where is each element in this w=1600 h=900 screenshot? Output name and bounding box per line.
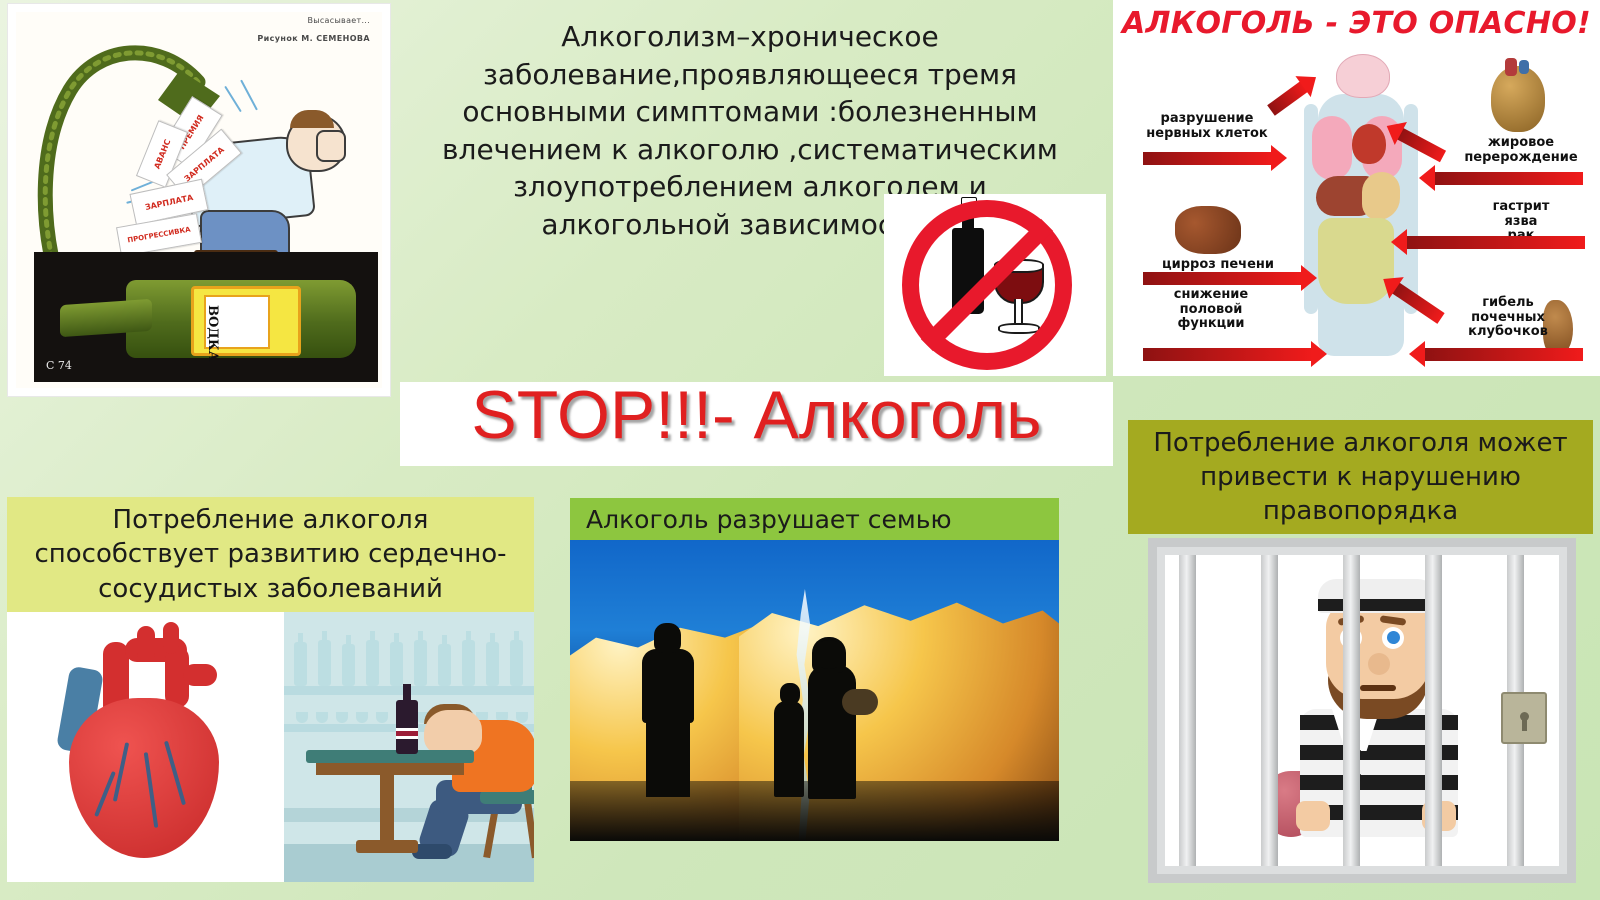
shelf-glass <box>356 712 368 723</box>
arrow-kidney <box>1423 348 1583 361</box>
chair-seat <box>480 790 534 804</box>
arrow-nerve-diagonal <box>1267 81 1309 116</box>
jail-cell <box>1165 555 1559 866</box>
cartoon-card: Высасывает... Рисунок М. СЕМЕНОВА <box>8 4 390 396</box>
table-top <box>306 750 474 763</box>
wine-bottle-label <box>396 728 418 739</box>
shelf-bottle <box>462 640 475 686</box>
bottle-neck <box>60 299 152 337</box>
arrow-sexual <box>1143 348 1313 361</box>
jail-frame <box>1157 547 1567 874</box>
label-nerve-destruction: разрушение нервных клеток <box>1137 112 1277 141</box>
bottle-label-inner: ВОДКА <box>204 295 270 349</box>
arrow-cirrhosis <box>1143 272 1303 285</box>
drunk-man-at-bar-illustration <box>284 612 534 882</box>
anatomical-heart-illustration <box>7 612 284 882</box>
prisoner-nose <box>1368 653 1390 675</box>
jail-bar <box>1343 555 1360 866</box>
label-kidney: гибель почечных клубочков <box>1443 296 1573 340</box>
label-fatty-degeneration: жировое перерождение <box>1453 136 1589 165</box>
jail-bar <box>1425 555 1442 866</box>
cardiovascular-images <box>7 612 534 882</box>
jail-bar <box>1179 555 1196 866</box>
no-alcohol-sign-card <box>884 194 1106 376</box>
shelf-bottle <box>366 640 379 686</box>
vessel-branch <box>183 664 217 686</box>
broken-family-image <box>570 540 1059 841</box>
cardiovascular-caption: Потребление алкоголя способствует развит… <box>7 497 534 612</box>
cartoon-artist-credit: Рисунок М. СЕМЕНОВА <box>257 34 370 43</box>
no-alcohol-icon <box>902 200 1072 370</box>
shelf-glass <box>316 712 328 723</box>
shelf-glass <box>296 712 308 723</box>
prisoner-fist-left <box>1296 801 1330 831</box>
prisoner-illustration <box>1148 538 1576 883</box>
stop-banner-text: STOP!!!- Алкоголь <box>400 376 1113 454</box>
cirrhosis-liver-icon <box>1175 206 1241 254</box>
shelf-bottle <box>318 640 331 686</box>
man-hair <box>290 110 334 128</box>
shelf-glass <box>376 712 388 723</box>
table-leg <box>380 775 394 847</box>
arrow-nerve <box>1143 152 1273 165</box>
shelf-bottle <box>390 642 403 686</box>
shelf-glass <box>336 712 348 723</box>
arrow-fatty <box>1433 172 1583 185</box>
keyhole-icon <box>1520 712 1529 721</box>
cartoon-caption-top: Высасывает... <box>307 16 370 25</box>
father-silhouette-legs <box>646 719 690 797</box>
man-hand <box>316 130 346 162</box>
shelf-bottle <box>342 644 355 686</box>
human-body-diagram <box>1306 54 1416 366</box>
wine-bottle <box>396 700 418 754</box>
prisoner-mouth <box>1360 685 1396 691</box>
father-silhouette-body <box>642 649 694 723</box>
brain-organ <box>1336 54 1390 98</box>
shelf-glass <box>516 712 528 723</box>
jail-bar <box>1261 555 1278 866</box>
carotid <box>163 622 179 654</box>
danger-poster-title: АЛКОГОЛЬ - ЭТО ОПАСНО! <box>1113 6 1600 41</box>
cartoon-illustration: Высасывает... Рисунок М. СЕМЕНОВА <box>16 12 382 388</box>
fatty-heart-icon <box>1491 66 1545 132</box>
vodka-bottle: ВОДКА <box>56 274 356 364</box>
lung-left <box>1312 116 1352 180</box>
table-under <box>316 763 464 775</box>
danger-poster-card: АЛКОГОЛЬ - ЭТО ОПАСНО! разрушение нервны… <box>1113 0 1600 376</box>
baby-silhouette <box>842 689 878 715</box>
father-silhouette-head <box>654 623 681 653</box>
shelf-bottle <box>486 642 499 686</box>
heart-muscle <box>69 698 219 858</box>
impact-spark <box>240 80 258 111</box>
brachiocephalic <box>137 626 155 662</box>
child-silhouette-body <box>774 701 804 797</box>
arrow-gastritis <box>1405 236 1585 249</box>
mother-silhouette-body <box>808 665 856 799</box>
shelf-bottle <box>510 640 523 686</box>
bottle-label: ВОДКА <box>191 286 301 356</box>
shelf-bottle <box>414 640 427 686</box>
prisoner-figure <box>1270 573 1490 866</box>
man-shoe <box>412 844 452 859</box>
table-base <box>356 840 418 853</box>
label-sexual-function: снижение половой функции <box>1141 288 1281 332</box>
bottle-label-text: ВОДКА <box>205 305 220 361</box>
heart-organ <box>1352 124 1386 164</box>
prisoner-pupil-right <box>1387 631 1400 644</box>
mother-silhouette-head <box>816 640 842 669</box>
jail-lock-plate <box>1501 692 1547 744</box>
family-header: Алкоголь разрушает семью <box>570 498 1059 540</box>
shelf-bottle <box>438 644 451 686</box>
label-cirrhosis: цирроз печени <box>1143 258 1293 273</box>
shelf-bottle <box>294 642 307 686</box>
child-silhouette-head <box>780 683 800 705</box>
man-head <box>424 710 482 754</box>
impact-spark <box>224 86 242 113</box>
law-violation-caption: Потребление алкоголя может привести к на… <box>1128 420 1593 534</box>
prisoner-cap-band <box>1318 599 1436 611</box>
stop-banner-card: STOP!!!- Алкоголь <box>400 382 1113 466</box>
